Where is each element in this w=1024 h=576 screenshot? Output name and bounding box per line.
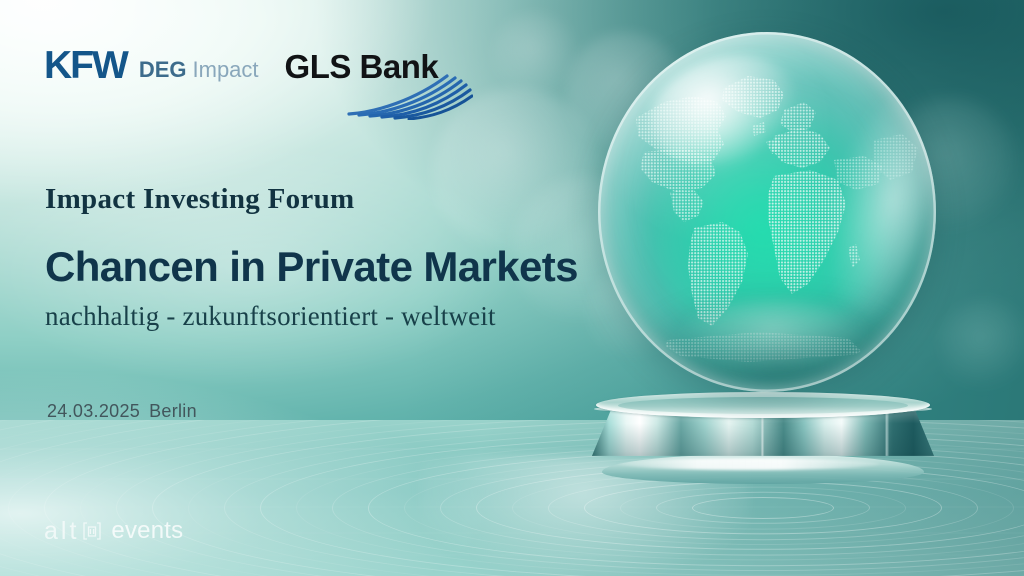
event-city: Berlin (149, 401, 197, 421)
page-tagline: nachhaltig - zukunftsorientiert - weltwe… (45, 301, 496, 332)
page-eyebrow: Impact Investing Forum (45, 183, 355, 216)
altii-prefix: alt (44, 517, 79, 546)
page-title: Chancen in Private Markets (45, 245, 578, 289)
kfw-logo: KFW DEGImpact (44, 46, 259, 85)
altii-bracket-icon (82, 522, 102, 540)
gls-bank-logo: GLS Bank (285, 50, 439, 83)
event-date: 24.03.2025 (47, 401, 140, 421)
poster-canvas: KFW DEGImpact GLS Bank Impact In (0, 0, 1024, 576)
chrome-pedestal-icon (592, 392, 934, 488)
glass-globe-icon (592, 28, 942, 406)
pedestal-base-gloss (618, 458, 880, 470)
deg-label: DEG (139, 57, 187, 82)
deg-impact-wordmark: DEGImpact (139, 59, 259, 81)
kfw-wordmark: KFW (44, 46, 127, 85)
impact-label: Impact (193, 57, 259, 82)
event-date-location: 24.03.2025Berlin (47, 401, 197, 422)
globe-rim (598, 32, 936, 392)
sponsor-logo-row: KFW DEGImpact GLS Bank (44, 46, 438, 85)
wing-swoosh-icon (343, 68, 473, 120)
altii-events-logo: alt events (44, 516, 183, 546)
altii-suffix: events (111, 517, 183, 545)
